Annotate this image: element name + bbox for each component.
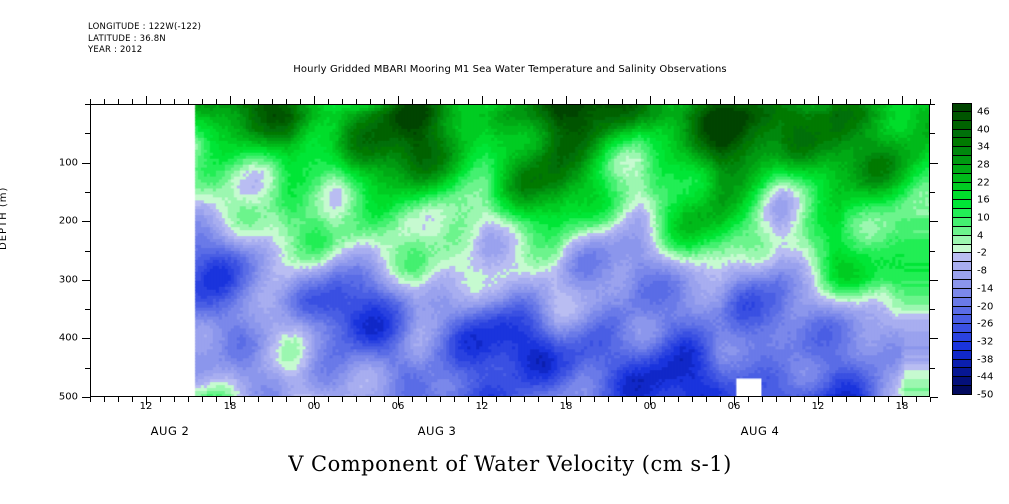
- x-tick-top: [734, 96, 735, 104]
- colorbar: [952, 103, 972, 395]
- y-axis-title: DEPTH (m): [0, 187, 9, 250]
- y-tick-label: 400: [38, 333, 78, 344]
- x-tick-top: [160, 99, 161, 104]
- x-tick-bottom: [888, 397, 889, 402]
- x-tick-bottom: [174, 397, 175, 402]
- x-tick-bottom: [104, 397, 105, 402]
- colorbar-band: [952, 368, 972, 377]
- x-tick-top: [846, 99, 847, 104]
- x-tick-bottom: [832, 397, 833, 402]
- year-text: YEAR : 2012: [88, 45, 201, 57]
- x-tick-bottom: [328, 397, 329, 402]
- x-tick-bottom: [678, 397, 679, 402]
- x-tick-top: [384, 99, 385, 104]
- colorbar-tick-label: 22: [977, 177, 990, 188]
- x-tick-top: [622, 99, 623, 104]
- y-tick-label: 200: [38, 216, 78, 227]
- x-tick-top: [874, 99, 875, 104]
- x-tick-bottom: [510, 397, 511, 402]
- colorbar-band: [952, 315, 972, 324]
- x-tick-bottom: [748, 397, 749, 402]
- colorbar-band: [952, 342, 972, 351]
- colorbar-tick-label: 28: [977, 159, 990, 170]
- x-tick-top: [300, 99, 301, 104]
- x-tick-label: 18: [224, 401, 237, 412]
- colorbar-tick-label: -50: [977, 390, 993, 401]
- x-tick-bottom: [426, 397, 427, 402]
- x-tick-label: 12: [476, 401, 489, 412]
- colorbar-band: [952, 156, 972, 165]
- y-tick-left: [82, 397, 90, 398]
- x-tick-bottom: [188, 397, 189, 402]
- colorbar-band: [952, 200, 972, 209]
- x-tick-bottom: [552, 397, 553, 402]
- y-tick-right: [930, 221, 938, 222]
- x-tick-top: [538, 99, 539, 104]
- colorbar-tick-label: -32: [977, 336, 993, 347]
- x-tick-label: 18: [896, 401, 909, 412]
- x-tick-top: [398, 96, 399, 104]
- x-day-label: AUG 2: [151, 424, 190, 438]
- colorbar-tick-label: 46: [977, 106, 990, 117]
- y-tick-right: [930, 163, 938, 164]
- latitude-text: LATITUDE : 36.8N: [88, 34, 201, 46]
- x-tick-top: [818, 96, 819, 104]
- y-tick-right: [930, 251, 935, 252]
- x-tick-top: [902, 96, 903, 104]
- colorbar-band: [952, 191, 972, 200]
- station-metadata: LONGITUDE : 122W(-122) LATITUDE : 36.8N …: [88, 22, 201, 57]
- x-tick-top: [762, 99, 763, 104]
- colorbar-band: [952, 307, 972, 316]
- x-tick-top: [426, 99, 427, 104]
- x-tick-bottom: [790, 397, 791, 402]
- x-tick-bottom: [916, 397, 917, 402]
- colorbar-band: [952, 103, 972, 112]
- x-tick-top: [328, 99, 329, 104]
- y-tick-right: [930, 368, 935, 369]
- x-tick-top: [272, 99, 273, 104]
- x-tick-top: [860, 99, 861, 104]
- colorbar-tick-label: 10: [977, 213, 990, 224]
- velocity-heatmap: [91, 105, 929, 396]
- x-day-label: AUG 3: [418, 424, 457, 438]
- y-tick-left: [85, 309, 90, 310]
- colorbar-tick-label: -44: [977, 372, 993, 383]
- colorbar-tick-label: -26: [977, 319, 993, 330]
- x-tick-top: [580, 99, 581, 104]
- colorbar-band: [952, 165, 972, 174]
- x-tick-top: [524, 99, 525, 104]
- x-tick-top: [216, 99, 217, 104]
- x-tick-top: [720, 99, 721, 104]
- x-tick-bottom: [370, 397, 371, 402]
- x-tick-top: [244, 99, 245, 104]
- x-tick-top: [454, 99, 455, 104]
- x-tick-bottom: [524, 397, 525, 402]
- x-tick-top: [636, 99, 637, 104]
- x-tick-top: [678, 99, 679, 104]
- x-tick-top: [594, 99, 595, 104]
- x-tick-bottom: [496, 397, 497, 402]
- colorbar-tick-label: -14: [977, 283, 993, 294]
- y-tick-left: [85, 368, 90, 369]
- x-tick-top: [104, 99, 105, 104]
- y-tick-right: [930, 338, 938, 339]
- x-tick-top: [664, 99, 665, 104]
- x-tick-top: [412, 99, 413, 104]
- x-tick-top: [146, 96, 147, 104]
- x-tick-top: [482, 96, 483, 104]
- x-tick-top: [776, 99, 777, 104]
- x-tick-top: [608, 99, 609, 104]
- x-tick-bottom: [692, 397, 693, 402]
- y-tick-right: [930, 280, 938, 281]
- x-tick-bottom: [776, 397, 777, 402]
- y-tick-right: [930, 104, 935, 105]
- x-tick-bottom: [272, 397, 273, 402]
- y-tick-left: [82, 280, 90, 281]
- colorbar-band: [952, 209, 972, 218]
- x-tick-top: [496, 99, 497, 104]
- colorbar-band: [952, 253, 972, 262]
- x-tick-bottom: [538, 397, 539, 402]
- x-tick-bottom: [580, 397, 581, 402]
- colorbar-tick-label: -38: [977, 354, 993, 365]
- colorbar-band: [952, 183, 972, 192]
- x-tick-label: 18: [560, 401, 573, 412]
- x-tick-top: [342, 99, 343, 104]
- y-tick-left: [82, 163, 90, 164]
- x-tick-top: [258, 99, 259, 104]
- x-tick-bottom: [706, 397, 707, 402]
- x-tick-bottom: [356, 397, 357, 402]
- x-tick-bottom: [454, 397, 455, 402]
- x-tick-bottom: [622, 397, 623, 402]
- x-tick-label: 00: [308, 401, 321, 412]
- colorbar-band: [952, 245, 972, 254]
- x-tick-bottom: [384, 397, 385, 402]
- x-tick-bottom: [412, 397, 413, 402]
- x-tick-top: [916, 99, 917, 104]
- y-tick-left: [85, 104, 90, 105]
- x-tick-top: [790, 99, 791, 104]
- y-tick-left: [82, 338, 90, 339]
- x-tick-bottom: [594, 397, 595, 402]
- colorbar-band: [952, 360, 972, 369]
- x-tick-bottom: [132, 397, 133, 402]
- colorbar-band: [952, 280, 972, 289]
- colorbar-band: [952, 289, 972, 298]
- x-tick-label: 12: [812, 401, 825, 412]
- y-tick-left: [85, 251, 90, 252]
- colorbar-band: [952, 262, 972, 271]
- x-tick-top: [370, 99, 371, 104]
- colorbar-band: [952, 130, 972, 139]
- x-tick-label: 06: [392, 401, 405, 412]
- colorbar-tick-label: 34: [977, 142, 990, 153]
- y-tick-right: [930, 397, 938, 398]
- x-tick-bottom: [636, 397, 637, 402]
- colorbar-band: [952, 324, 972, 333]
- x-tick-bottom: [286, 397, 287, 402]
- chart-title: Hourly Gridded MBARI Mooring M1 Sea Wate…: [90, 64, 930, 75]
- x-tick-bottom: [90, 397, 91, 402]
- colorbar-tick-label: 16: [977, 195, 990, 206]
- x-tick-top: [552, 99, 553, 104]
- colorbar-band: [952, 351, 972, 360]
- x-tick-top: [706, 99, 707, 104]
- x-tick-top: [356, 99, 357, 104]
- y-tick-label: 100: [38, 157, 78, 168]
- colorbar-band: [952, 333, 972, 342]
- x-tick-top: [748, 99, 749, 104]
- x-tick-bottom: [608, 397, 609, 402]
- y-tick-label: 500: [38, 392, 78, 403]
- y-tick-right: [930, 192, 935, 193]
- x-tick-top: [230, 96, 231, 104]
- x-tick-bottom: [440, 397, 441, 402]
- x-tick-bottom: [804, 397, 805, 402]
- colorbar-tick-label: -2: [977, 248, 987, 259]
- colorbar-band: [952, 112, 972, 121]
- x-tick-bottom: [202, 397, 203, 402]
- x-tick-bottom: [118, 397, 119, 402]
- colorbar-band: [952, 271, 972, 280]
- x-tick-top: [566, 96, 567, 104]
- x-tick-bottom: [762, 397, 763, 402]
- x-tick-bottom: [664, 397, 665, 402]
- x-tick-top: [188, 99, 189, 104]
- x-tick-bottom: [720, 397, 721, 402]
- x-tick-top: [650, 96, 651, 104]
- colorbar-band: [952, 227, 972, 236]
- x-tick-bottom: [342, 397, 343, 402]
- x-tick-top: [888, 99, 889, 104]
- colorbar-band: [952, 147, 972, 156]
- y-tick-left: [85, 192, 90, 193]
- x-tick-bottom: [160, 397, 161, 402]
- x-tick-bottom: [468, 397, 469, 402]
- x-tick-top: [174, 99, 175, 104]
- x-tick-top: [468, 99, 469, 104]
- y-tick-left: [82, 221, 90, 222]
- colorbar-tick-label: 4: [977, 230, 983, 241]
- colorbar-band: [952, 377, 972, 386]
- colorbar-band: [952, 386, 972, 395]
- variable-title: V Component of Water Velocity (cm s-1): [90, 452, 930, 476]
- x-tick-bottom: [216, 397, 217, 402]
- y-tick-right: [930, 133, 935, 134]
- x-tick-top: [314, 96, 315, 104]
- x-tick-top: [510, 99, 511, 104]
- x-tick-top: [804, 99, 805, 104]
- x-tick-bottom: [244, 397, 245, 402]
- x-tick-top: [90, 99, 91, 104]
- x-tick-top: [440, 99, 441, 104]
- x-tick-top: [132, 99, 133, 104]
- x-tick-bottom: [258, 397, 259, 402]
- longitude-text: LONGITUDE : 122W(-122): [88, 22, 201, 34]
- x-tick-top: [118, 99, 119, 104]
- colorbar-band: [952, 236, 972, 245]
- y-tick-label: 300: [38, 274, 78, 285]
- colorbar-band: [952, 298, 972, 307]
- colorbar-tick-label: -8: [977, 266, 987, 277]
- x-tick-top: [286, 99, 287, 104]
- x-tick-bottom: [300, 397, 301, 402]
- x-tick-top: [202, 99, 203, 104]
- plot-area: [90, 104, 930, 397]
- colorbar-tick-label: 40: [977, 124, 990, 135]
- x-day-label: AUG 4: [741, 424, 780, 438]
- colorbar-band: [952, 218, 972, 227]
- colorbar-tick-label: -20: [977, 301, 993, 312]
- x-tick-bottom: [874, 397, 875, 402]
- x-tick-label: 12: [140, 401, 153, 412]
- x-tick-bottom: [846, 397, 847, 402]
- x-tick-label: 06: [728, 401, 741, 412]
- x-tick-bottom: [860, 397, 861, 402]
- x-tick-label: 00: [644, 401, 657, 412]
- y-tick-right: [930, 309, 935, 310]
- colorbar-band: [952, 121, 972, 130]
- colorbar-band: [952, 174, 972, 183]
- x-tick-top: [692, 99, 693, 104]
- x-tick-top: [832, 99, 833, 104]
- colorbar-band: [952, 138, 972, 147]
- y-tick-left: [85, 133, 90, 134]
